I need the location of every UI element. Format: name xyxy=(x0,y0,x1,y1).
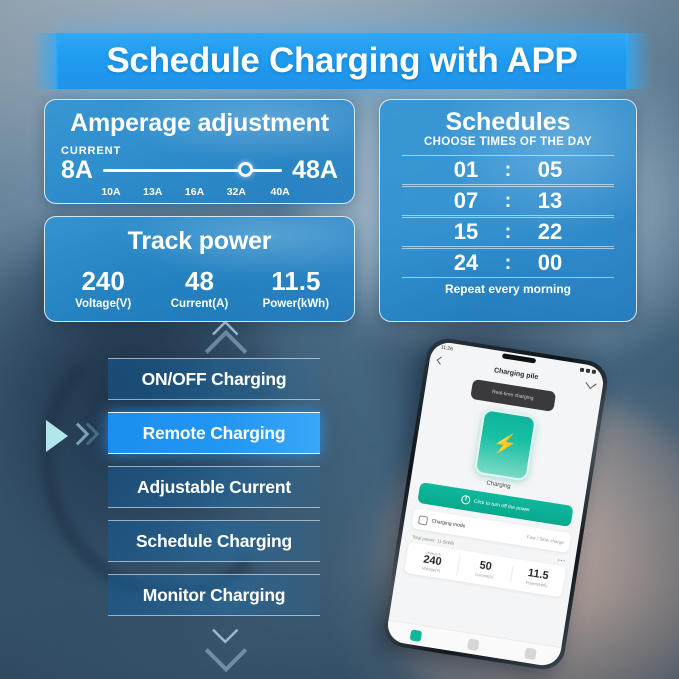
phone-stat-power: 11.5 Power(kWh) xyxy=(511,566,565,591)
slider-tick-40a[interactable]: 40A xyxy=(270,186,289,198)
track-power-title: Track power xyxy=(55,226,344,256)
slider-track[interactable] xyxy=(103,169,282,172)
power-icon xyxy=(460,495,470,505)
chevron-down-icon xyxy=(202,636,246,653)
schedule-hour[interactable]: 24 xyxy=(436,250,496,276)
metric-power: 11.5 Power(kWh) xyxy=(248,268,344,310)
amperage-slider-row[interactable]: 8A 48A xyxy=(61,158,338,183)
battery-graphic-wrap: ⚡ xyxy=(473,408,537,482)
schedule-minute[interactable]: 00 xyxy=(520,250,580,276)
metric-voltage: 240 Voltage(V) xyxy=(55,268,151,310)
schedules-subtitle: CHOOSE TIMES OF THE DAY xyxy=(402,136,614,148)
schedules-list: 01 : 05 07 : 13 15 : 22 24 : 00 xyxy=(402,155,614,278)
pointer-marker xyxy=(46,414,102,458)
schedule-colon: : xyxy=(496,159,520,182)
amperage-panel-title: Amperage adjustment xyxy=(61,108,338,138)
banner-glow-right xyxy=(626,33,652,89)
metric-voltage-value: 240 xyxy=(55,268,151,295)
schedule-row[interactable]: 24 : 00 xyxy=(402,248,614,278)
schedules-footer: Repeat every morning xyxy=(402,282,614,296)
track-power-metrics: 240 Voltage(V) 48 Current(A) 11.5 Power(… xyxy=(55,268,344,310)
schedule-row[interactable]: 15 : 22 xyxy=(402,217,614,247)
battery-icon xyxy=(592,369,597,374)
page-title: Schedule Charging with APP xyxy=(106,41,577,81)
title-banner: Schedule Charging with APP xyxy=(56,33,628,89)
schedule-minute[interactable]: 13 xyxy=(520,188,580,214)
status-time: 11:26 xyxy=(440,345,453,353)
slider-handle[interactable] xyxy=(238,162,253,177)
metric-current: 48 Current(A) xyxy=(151,268,247,310)
metric-current-value: 48 xyxy=(151,268,247,295)
metric-current-label: Current(A) xyxy=(151,298,247,310)
schedule-minute[interactable]: 05 xyxy=(520,157,580,183)
charging-mode-title: Charging mode xyxy=(431,518,466,529)
banner-glow-left xyxy=(32,33,58,89)
totals-menu-icon[interactable]: • • • xyxy=(557,557,565,563)
play-triangle-icon xyxy=(46,420,68,452)
tab-home-icon[interactable] xyxy=(409,629,422,642)
slider-tick-16a[interactable]: 16A xyxy=(185,186,204,198)
feature-item-schedule-charging[interactable]: Schedule Charging xyxy=(108,520,320,562)
battery-graphic: ⚡ xyxy=(473,408,537,482)
feature-item-adjustable-current[interactable]: Adjustable Current xyxy=(108,466,320,508)
charging-mode-left: Charging mode xyxy=(418,515,466,531)
feature-item-monitor-charging[interactable]: Monitor Charging xyxy=(108,574,320,616)
schedule-colon: : xyxy=(496,221,520,244)
phone-screen-title: Charging pile xyxy=(494,367,539,381)
signal-icon xyxy=(580,368,585,373)
chevron-up-group xyxy=(196,326,252,362)
lightning-bolt-icon: ⚡ xyxy=(491,433,519,457)
charging-mode-value: Fast / Slow charge xyxy=(527,534,565,545)
metric-power-label: Power(kWh) xyxy=(248,298,344,310)
power-toggle-label: Click to turn off the power xyxy=(473,498,530,513)
schedule-colon: : xyxy=(496,190,520,213)
edit-icon[interactable] xyxy=(585,378,596,389)
slider-max-label: 48A xyxy=(292,158,338,183)
slider-tick-row: 10A 13A 16A 32A 40A xyxy=(105,186,304,201)
slider-min-label: 8A xyxy=(61,158,93,183)
schedules-title: Schedules xyxy=(402,108,614,136)
feature-list: ON/OFF Charging Remote Charging Adjustab… xyxy=(108,358,320,628)
schedule-minute[interactable]: 22 xyxy=(520,219,580,245)
wifi-icon xyxy=(586,369,591,374)
back-arrow-icon[interactable] xyxy=(437,356,445,364)
slider-tick-32a[interactable]: 32A xyxy=(227,186,246,198)
feature-item-onoff-charging[interactable]: ON/OFF Charging xyxy=(108,358,320,400)
amperage-adjustment-panel: Amperage adjustment CURRENT 8A 48A 10A 1… xyxy=(44,99,355,204)
metric-power-value: 11.5 xyxy=(248,268,344,295)
slider-tick-13a[interactable]: 13A xyxy=(143,186,162,198)
feature-item-remote-charging[interactable]: Remote Charging xyxy=(108,412,320,454)
status-icons xyxy=(580,368,596,374)
schedules-panel: Schedules CHOOSE TIMES OF THE DAY 01 : 0… xyxy=(379,99,637,322)
track-power-panel: Track power 240 Voltage(V) 48 Current(A)… xyxy=(44,216,355,322)
schedule-row[interactable]: 01 : 05 xyxy=(402,155,614,185)
phone-stat-voltage: phase A 240 Voltage(V) xyxy=(405,547,461,577)
tab-devices-icon[interactable] xyxy=(467,638,480,651)
slider-tick-10a[interactable]: 10A xyxy=(101,186,120,198)
tab-settings-icon[interactable] xyxy=(525,647,538,660)
mode-grid-icon xyxy=(418,515,428,525)
schedule-hour[interactable]: 01 xyxy=(436,157,496,183)
metric-voltage-label: Voltage(V) xyxy=(55,298,151,310)
schedule-colon: : xyxy=(496,252,520,275)
amperage-slider[interactable] xyxy=(103,163,282,179)
chevron-down-group xyxy=(196,618,252,654)
phone-stat-current: 50 Current(A) xyxy=(458,557,513,582)
schedule-hour[interactable]: 15 xyxy=(436,219,496,245)
schedule-hour[interactable]: 07 xyxy=(436,188,496,214)
infographic-stage: Schedule Charging with APP Amperage adju… xyxy=(0,0,679,679)
schedule-row[interactable]: 07 : 13 xyxy=(402,186,614,216)
